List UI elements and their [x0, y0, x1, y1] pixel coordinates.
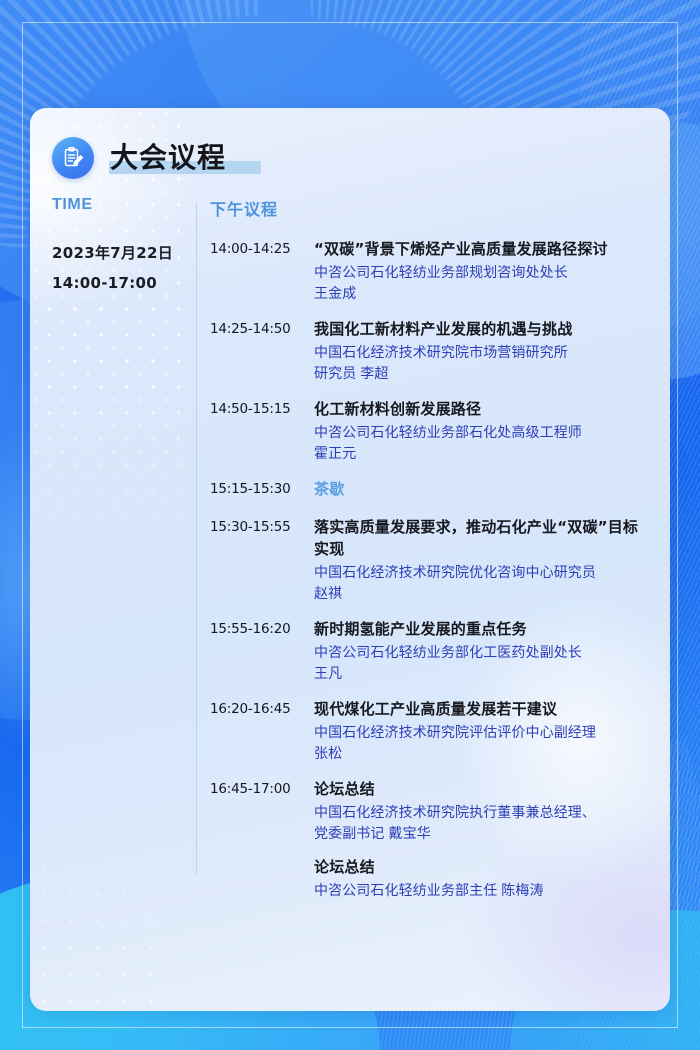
agenda-card: 大会议程 TIME 2023年7月22日 14:00-17:00 下午议程 14…: [30, 108, 670, 1011]
agenda-entries: 论坛总结中国石化经济技术研究院执行董事兼总经理、党委副书记 戴宝华论坛总结中咨公…: [308, 778, 650, 901]
agenda-entry: 论坛总结中咨公司石化轻纺业务部主任 陈梅涛: [314, 856, 650, 901]
agenda-entry: 我国化工新材料产业发展的机遇与挑战中国石化经济技术研究院市场营销研究所研究员 李…: [314, 318, 650, 384]
agenda-row: 16:45-17:00论坛总结中国石化经济技术研究院执行董事兼总经理、党委副书记…: [210, 778, 650, 901]
agenda-entry: 新时期氢能产业发展的重点任务中咨公司石化轻纺业务部化工医药处副处长王凡: [314, 618, 650, 684]
agenda-entry-speaker: 中国石化经济技术研究院优化咨询中心研究员赵祺: [314, 562, 650, 604]
agenda-entry-speaker: 中咨公司石化轻纺业务部规划咨询处处长王金成: [314, 262, 650, 304]
agenda-column-header: 下午议程: [210, 196, 650, 216]
agenda-entry-title: 论坛总结: [314, 778, 650, 800]
agenda-entry-speaker: 中咨公司石化轻纺业务部主任 陈梅涛: [314, 880, 650, 901]
agenda-time-slot: 16:20-16:45: [210, 698, 308, 720]
agenda-poster: 大会议程 TIME 2023年7月22日 14:00-17:00 下午议程 14…: [0, 0, 700, 1050]
event-time-range: 14:00-17:00: [52, 268, 196, 298]
agenda-time-slot: 14:25-14:50: [210, 318, 308, 340]
agenda-entry-speaker: 中国石化经济技术研究院评估评价中心副经理张松: [314, 722, 650, 764]
time-column-header: TIME: [52, 196, 196, 216]
agenda-time-slot: 15:30-15:55: [210, 516, 308, 538]
agenda-entry-title: 化工新材料创新发展路径: [314, 398, 650, 420]
clipboard-pencil-icon: [52, 137, 94, 179]
agenda-entries: 新时期氢能产业发展的重点任务中咨公司石化轻纺业务部化工医药处副处长王凡: [308, 618, 650, 684]
agenda-row: 14:50-15:15化工新材料创新发展路径中咨公司石化轻纺业务部石化处高级工程…: [210, 398, 650, 464]
agenda-time-slot: 15:15-15:30: [210, 478, 308, 500]
agenda-entries: 落实高质量发展要求，推动石化产业“双碳”目标实现中国石化经济技术研究院优化咨询中…: [308, 516, 650, 604]
agenda-row: 15:30-15:55落实高质量发展要求，推动石化产业“双碳”目标实现中国石化经…: [210, 516, 650, 604]
agenda-entries: 现代煤化工产业高质量发展若干建议中国石化经济技术研究院评估评价中心副经理张松: [308, 698, 650, 764]
agenda-entry-title: 我国化工新材料产业发展的机遇与挑战: [314, 318, 650, 340]
event-date: 2023年7月22日: [52, 238, 196, 268]
agenda-entries: 化工新材料创新发展路径中咨公司石化轻纺业务部石化处高级工程师霍正元: [308, 398, 650, 464]
agenda-entries: 我国化工新材料产业发展的机遇与挑战中国石化经济技术研究院市场营销研究所研究员 李…: [308, 318, 650, 384]
agenda-entries: 茶歇: [308, 478, 650, 500]
agenda-entry-title: 现代煤化工产业高质量发展若干建议: [314, 698, 650, 720]
agenda-row: 16:20-16:45现代煤化工产业高质量发展若干建议中国石化经济技术研究院评估…: [210, 698, 650, 764]
page-title-wrap: 大会议程: [106, 141, 230, 175]
time-column: TIME 2023年7月22日 14:00-17:00: [30, 196, 196, 915]
card-header: 大会议程: [30, 108, 670, 182]
agenda-entry-title: 论坛总结: [314, 856, 650, 878]
agenda-row: 14:25-14:50我国化工新材料产业发展的机遇与挑战中国石化经济技术研究院市…: [210, 318, 650, 384]
agenda-row: 15:15-15:30茶歇: [210, 478, 650, 500]
agenda-entry: 化工新材料创新发展路径中咨公司石化轻纺业务部石化处高级工程师霍正元: [314, 398, 650, 464]
agenda-row: 15:55-16:20新时期氢能产业发展的重点任务中咨公司石化轻纺业务部化工医药…: [210, 618, 650, 684]
agenda-entry: 现代煤化工产业高质量发展若干建议中国石化经济技术研究院评估评价中心副经理张松: [314, 698, 650, 764]
agenda-entry-title: “双碳”背景下烯烃产业高质量发展路径探讨: [314, 238, 650, 260]
agenda-time-slot: 14:00-14:25: [210, 238, 308, 260]
agenda-entry-speaker: 中国石化经济技术研究院执行董事兼总经理、党委副书记 戴宝华: [314, 802, 650, 844]
agenda-time-slot: 16:45-17:00: [210, 778, 308, 800]
agenda-time-slot: 15:55-16:20: [210, 618, 308, 640]
agenda-time-slot: 14:50-15:15: [210, 398, 308, 420]
agenda-entry-title: 茶歇: [314, 478, 650, 500]
agenda-entries: “双碳”背景下烯烃产业高质量发展路径探讨中咨公司石化轻纺业务部规划咨询处处长王金…: [308, 238, 650, 304]
agenda-entry-title: 新时期氢能产业发展的重点任务: [314, 618, 650, 640]
agenda-entry-title: 落实高质量发展要求，推动石化产业“双碳”目标实现: [314, 516, 650, 560]
agenda-column: 下午议程 14:00-14:25“双碳”背景下烯烃产业高质量发展路径探讨中咨公司…: [197, 196, 670, 915]
agenda-entry-speaker: 中咨公司石化轻纺业务部石化处高级工程师霍正元: [314, 422, 650, 464]
agenda-break-entry: 茶歇: [314, 478, 650, 500]
agenda-entry-speaker: 中咨公司石化轻纺业务部化工医药处副处长王凡: [314, 642, 650, 684]
agenda-entry: 论坛总结中国石化经济技术研究院执行董事兼总经理、党委副书记 戴宝华: [314, 778, 650, 844]
agenda-entry: 落实高质量发展要求，推动石化产业“双碳”目标实现中国石化经济技术研究院优化咨询中…: [314, 516, 650, 604]
card-body: TIME 2023年7月22日 14:00-17:00 下午议程 14:00-1…: [30, 182, 670, 915]
page-title: 大会议程: [106, 141, 230, 174]
agenda-row: 14:00-14:25“双碳”背景下烯烃产业高质量发展路径探讨中咨公司石化轻纺业…: [210, 238, 650, 304]
agenda-list: 14:00-14:25“双碳”背景下烯烃产业高质量发展路径探讨中咨公司石化轻纺业…: [210, 238, 650, 901]
agenda-entry-speaker: 中国石化经济技术研究院市场营销研究所研究员 李超: [314, 342, 650, 384]
agenda-entry: “双碳”背景下烯烃产业高质量发展路径探讨中咨公司石化轻纺业务部规划咨询处处长王金…: [314, 238, 650, 304]
